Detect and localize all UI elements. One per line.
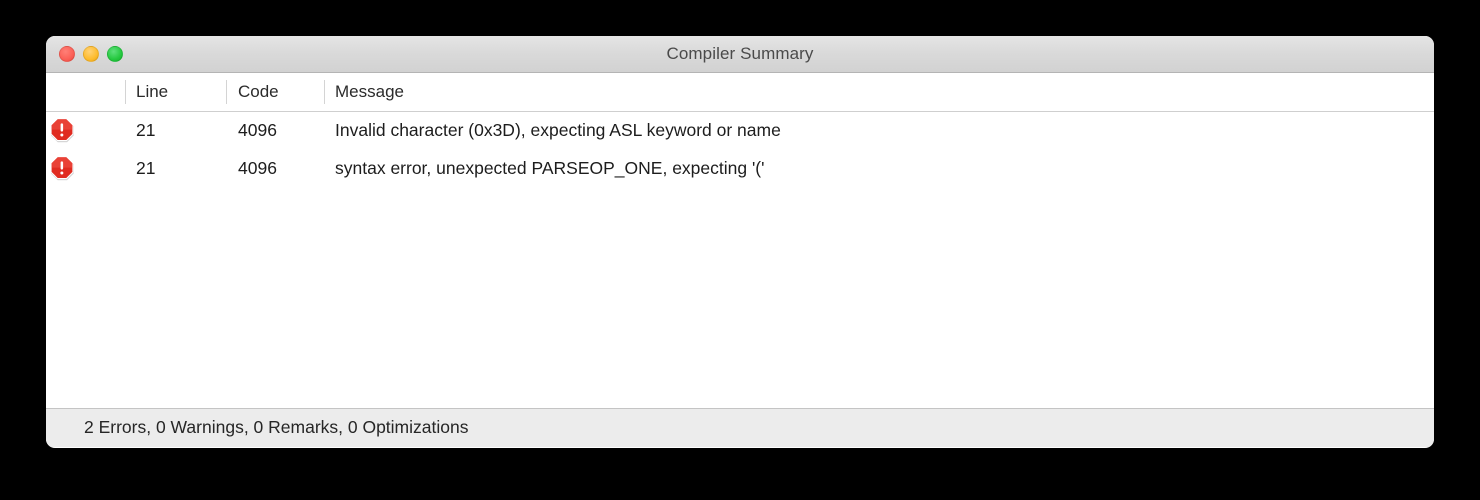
column-header-code[interactable]: Code [238,82,279,102]
cell-line: 21 [136,120,155,141]
cell-message: Invalid character (0x3D), expecting ASL … [335,120,781,141]
window-titlebar[interactable]: Compiler Summary [46,36,1434,73]
compiler-summary-window: Compiler Summary Line Code Message [46,36,1434,448]
column-separator [226,80,227,104]
cell-line: 21 [136,158,155,179]
window-title: Compiler Summary [46,36,1434,72]
diagnostics-list[interactable]: 21 4096 Invalid character (0x3D), expect… [46,112,1434,408]
column-header-line[interactable]: Line [136,82,168,102]
error-octagon-icon [49,155,77,183]
column-header-message[interactable]: Message [335,82,404,102]
column-separator [125,80,126,104]
table-row[interactable]: 21 4096 syntax error, unexpected PARSEOP… [46,150,1434,188]
table-row[interactable]: 21 4096 Invalid character (0x3D), expect… [46,112,1434,150]
status-bar: 2 Errors, 0 Warnings, 0 Remarks, 0 Optim… [46,408,1434,447]
cell-message: syntax error, unexpected PARSEOP_ONE, ex… [335,158,764,179]
desktop-background: Compiler Summary Line Code Message [0,0,1480,500]
cell-code: 4096 [238,120,277,141]
error-octagon-icon [49,117,77,145]
status-summary-text: 2 Errors, 0 Warnings, 0 Remarks, 0 Optim… [84,417,468,438]
cell-code: 4096 [238,158,277,179]
column-separator [324,80,325,104]
table-header-row: Line Code Message [46,73,1434,112]
